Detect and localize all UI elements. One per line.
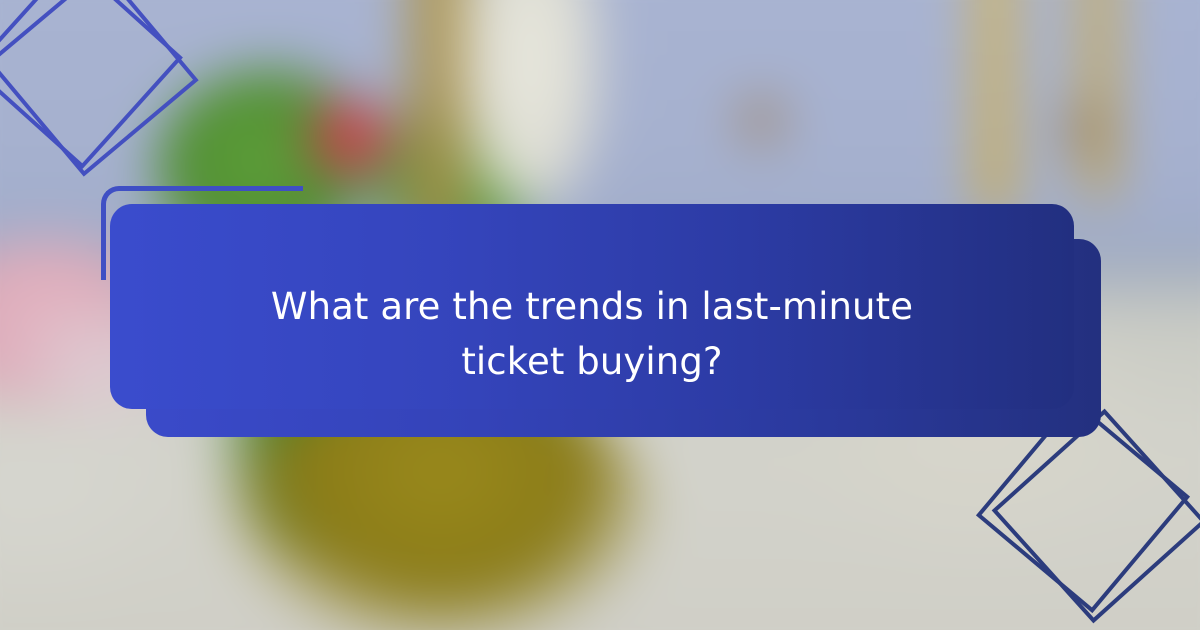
figure-blob	[1055, 100, 1113, 158]
post-blob	[975, 0, 1015, 220]
drape-blob	[460, 0, 600, 210]
decor-squares-bottom-right	[985, 418, 1200, 630]
rotated-square-icon	[992, 409, 1200, 624]
page-title: What are the trends in last-minute ticke…	[242, 280, 942, 390]
question-card: What are the trends in last-minute ticke…	[110, 204, 1074, 409]
flower-blob	[305, 95, 395, 180]
rotated-square-icon	[0, 0, 199, 177]
screenshot-root: What are the trends in last-minute ticke…	[0, 0, 1200, 630]
figure-blob	[730, 90, 792, 150]
decor-squares-top-left	[0, 0, 210, 192]
